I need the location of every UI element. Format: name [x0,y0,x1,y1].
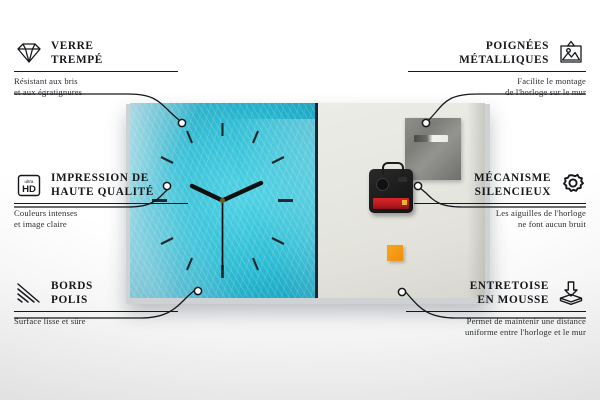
feature-title: POIGNÉES MÉTALLIQUES [459,39,549,68]
feature-bords-polis: BORDS POLIS Surface lisse et sûre [14,279,178,327]
hour-hand [192,186,223,201]
title-line-1: VERRE [51,39,103,53]
subtitle-line-1: Les aiguilles de l'horloge [414,208,586,219]
mechanism-hook [382,162,404,175]
subtitle-line-2: et image claire [14,219,188,230]
feature-header: ENTRETOISE EN MOUSSE [406,279,586,308]
minute-hand [223,183,262,201]
subtitle-line-2: ne font aucun bruit [414,219,586,230]
title-line-2: POLIS [51,293,93,307]
ultra-hd-icon: ultra HD [14,173,44,198]
subtitle-line-2: uniforme entre l'horloge et le mur [406,327,586,338]
feature-subtitle: Permet de maintenir une distance uniform… [406,316,586,338]
feature-subtitle: Couleurs intenses et image claire [14,208,188,230]
feature-impression-haute-qualite: ultra HD IMPRESSION DE HAUTE QUALITÉ Cou… [14,171,188,230]
title-line-1: POIGNÉES [459,39,549,53]
foam-spacer-icon [556,280,586,306]
clock-mechanism [369,169,413,213]
picture-frame-icon [556,40,586,66]
title-line-2: SILENCIEUX [474,185,551,199]
divider [14,203,188,204]
feature-title: ENTRETOISE EN MOUSSE [470,279,549,308]
subtitle-line-2: de l'horloge sur le mur [408,87,586,98]
feature-subtitle: Résistant aux bris et aux égratignures [14,76,178,98]
hands-pivot [220,198,225,203]
mechanism-dial [376,178,389,191]
title-line-1: IMPRESSION DE [51,171,154,185]
feature-poignees-metalliques: POIGNÉES MÉTALLIQUES Facilite le montage… [408,39,586,98]
feature-verre-trempe: VERRE TREMPÉ Résistant aux bris et aux é… [14,39,178,98]
battery [373,198,409,209]
feature-header: BORDS POLIS [14,279,178,308]
feature-header: ultra HD IMPRESSION DE HAUTE QUALITÉ [14,171,188,200]
feature-title: BORDS POLIS [51,279,93,308]
title-line-1: MÉCANISME [474,171,551,185]
divider [406,311,586,312]
subtitle-line-1: Couleurs intenses [14,208,188,219]
feature-mecanisme-silencieux: MÉCANISME SILENCIEUX Les aiguilles de l'… [414,171,586,230]
feature-title: MÉCANISME SILENCIEUX [474,171,551,200]
feature-title: IMPRESSION DE HAUTE QUALITÉ [51,171,154,200]
subtitle-line-1: Permet de maintenir une distance [406,316,586,327]
feature-header: POIGNÉES MÉTALLIQUES [408,39,586,68]
icon-hd-text: HD [22,184,36,195]
divider [14,71,178,72]
title-line-2: MÉTALLIQUES [459,53,549,67]
diamond-icon [14,41,44,65]
feature-entretoise-en-mousse: ENTRETOISE EN MOUSSE Permet de maintenir… [406,279,586,338]
subtitle-line-1: Résistant aux bris [14,76,178,87]
subtitle-line-1: Facilite le montage [408,76,586,87]
polished-edge-icon [14,281,44,305]
infographic-canvas: VERRE TREMPÉ Résistant aux bris et aux é… [0,0,600,400]
title-line-1: BORDS [51,279,93,293]
gear-icon [558,172,586,198]
feature-subtitle: Surface lisse et sûre [14,316,178,327]
feature-subtitle: Facilite le montage de l'horloge sur le … [408,76,586,98]
feature-header: VERRE TREMPÉ [14,39,178,68]
divider [414,203,586,204]
divider [14,311,178,312]
hanger-slot [414,135,448,142]
mechanism-button [398,177,407,182]
subtitle-line-1: Surface lisse et sûre [14,316,178,327]
title-line-2: EN MOUSSE [470,293,549,307]
feature-header: MÉCANISME SILENCIEUX [414,171,586,200]
title-line-2: TREMPÉ [51,53,103,67]
divider [408,71,586,72]
feature-subtitle: Les aiguilles de l'horloge ne font aucun… [414,208,586,230]
title-line-2: HAUTE QUALITÉ [51,185,154,199]
foam-spacer [387,245,403,261]
feature-title: VERRE TREMPÉ [51,39,103,68]
title-line-1: ENTRETOISE [470,279,549,293]
subtitle-line-2: et aux égratignures [14,87,178,98]
